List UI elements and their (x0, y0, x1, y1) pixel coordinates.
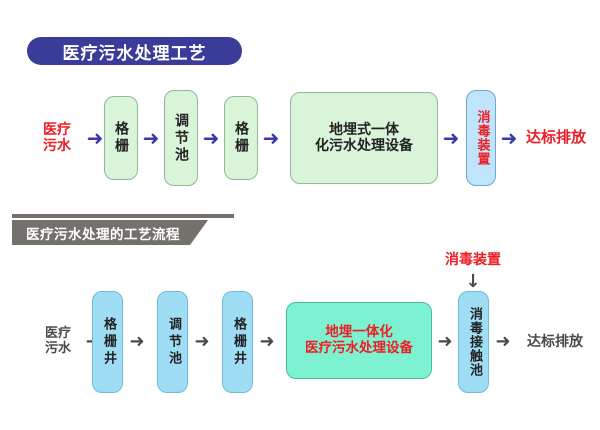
flow2-callout-down-arrow-icon: ↓ (462, 272, 484, 292)
flow1-arrow-1-icon: ➜ (84, 126, 106, 150)
flow2-discharge-label: 达标排放 (527, 334, 583, 350)
flow1-arrow-3-icon: ➜ (200, 126, 222, 150)
flow2-arrow-5-icon: ➜ (434, 330, 456, 354)
flow2-node-grate-well-2: 格栅井 (222, 291, 253, 393)
flow1-arrow-6-icon: ➜ (498, 126, 520, 150)
flow2-arrow-6-icon: ➜ (492, 330, 514, 354)
flow1-node-buried-equipment: 地埋式一体 化污水处理设备 (290, 92, 438, 184)
flow2-node-equalization-tank: 调节池 (157, 291, 188, 393)
flow1-grate-2-label: 格栅 (233, 121, 249, 155)
flow1-influent-line1: 医疗 (43, 122, 71, 138)
flow1-grate-1-label: 格栅 (113, 121, 129, 155)
flow1-arrow-2-icon: ➜ (140, 126, 162, 150)
flow2-equalization-label: 调节池 (165, 317, 180, 368)
flow2-arrow-3-icon: ➜ (191, 330, 213, 354)
flow2-node-buried-equipment: 地埋一体化 医疗污水处理设备 (286, 302, 432, 379)
section1-title: 医疗污水处理工艺 (27, 37, 242, 65)
flow2-influent-line2: 污水 (45, 342, 71, 357)
flow1-node-grate-2: 格栅 (224, 96, 258, 180)
flow2-node-disinfection-contact-tank: 消毒接触池 (458, 291, 489, 393)
flow2-arrow-2-icon: ➜ (126, 330, 148, 354)
flow1-buried-line2: 化污水处理设备 (315, 138, 413, 154)
flow2-influent-line1: 医疗 (45, 327, 71, 342)
flow1-node-equalization-tank: 调节池 (164, 90, 198, 186)
flow1-equalization-label: 调节池 (173, 113, 189, 164)
flow2-node-discharge: 达标排放 (518, 330, 592, 354)
flow2-contact-tank-label: 消毒接触池 (466, 307, 481, 377)
flow2-callout-disinfection: 消毒装置 (430, 250, 516, 270)
flow1-discharge-label: 达标排放 (526, 129, 586, 146)
flow1-arrow-5-icon: ➜ (440, 126, 462, 150)
flow1-node-discharge: 达标排放 (520, 126, 592, 150)
flow1-arrow-4-icon: ➜ (260, 126, 282, 150)
section2-title-wrap: 医疗污水处理的工艺流程 (12, 220, 208, 245)
flow2-buried-line2: 医疗污水处理设备 (305, 341, 413, 357)
flow2-node-influent: 医疗 污水 (32, 320, 84, 364)
diagram-canvas: 医疗污水处理工艺 医疗 污水 ➜ 格栅 ➜ 调节池 ➜ 格栅 ➜ 地埋式一体 化… (0, 0, 600, 430)
flow2-grate-well-2-label: 格栅井 (230, 317, 245, 368)
flow1-node-influent: 医疗 污水 (30, 114, 84, 162)
section2-divider (12, 214, 234, 218)
flow1-influent-line2: 污水 (43, 138, 71, 154)
flow2-arrow-4-icon: ➜ (256, 330, 278, 354)
flow2-node-grate-well-1: 格栅井 (92, 291, 123, 393)
flow2-grate-well-1-label: 格栅井 (100, 317, 115, 368)
flow1-node-grate-1: 格栅 (104, 96, 138, 180)
flow1-buried-line1: 地埋式一体 (329, 122, 399, 138)
flow1-disinfection-label: 消毒装置 (474, 110, 489, 166)
flow2-callout-label: 消毒装置 (445, 252, 501, 268)
flow1-node-disinfection-unit: 消毒装置 (466, 90, 496, 186)
section2-title: 医疗污水处理的工艺流程 (12, 220, 208, 245)
flow2-buried-line1: 地埋一体化 (325, 325, 393, 341)
